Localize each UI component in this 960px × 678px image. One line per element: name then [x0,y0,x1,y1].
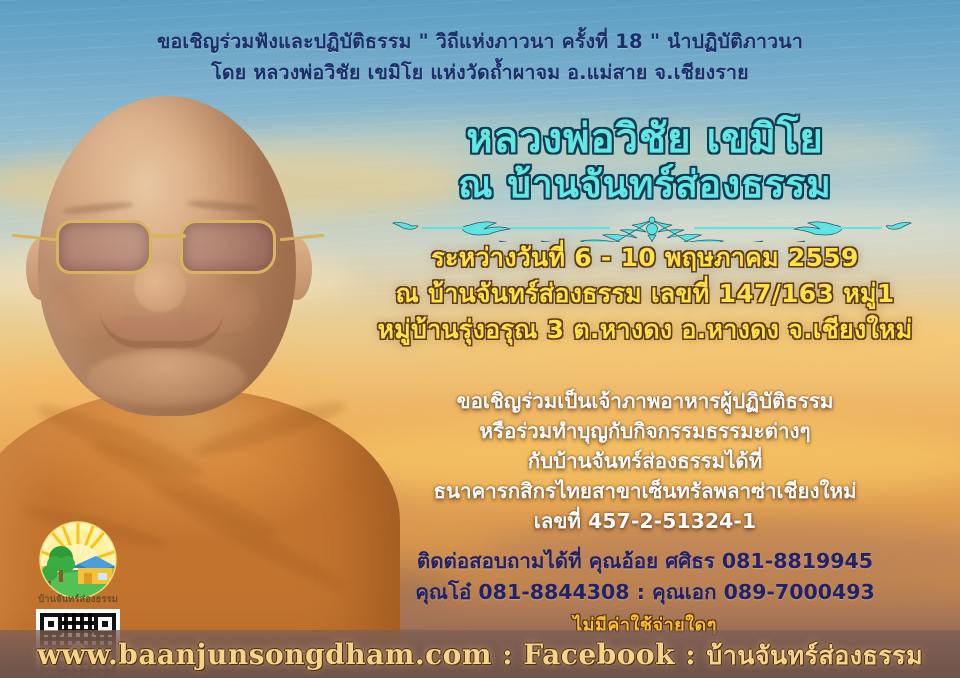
header-line-1: ขอเชิญร่วมฟังและปฏิบัติธรรม " วิถีแห่งภา… [0,26,960,57]
contact-info: ติดต่อสอบถามได้ที่ คุณอ้อย ศศิธร 081-881… [330,546,960,608]
facebook-page-name[interactable]: บ้านจันทร์ส่องธรรม [706,641,923,670]
bank-account-number: เลขที่ 457-2-51324-1 [330,506,960,536]
footer-separator-1: : [492,638,523,671]
donation-line-2: หรือร่วมทำบุญกับกิจกรรมธรรมะต่างๆ [330,416,960,446]
contact-line-2: คุณโอ๋ 081-8844308 : คุณเอก 089-7000493 [330,577,960,608]
baan-jun-song-dham-logo-icon: บ้านจันทร์ส่องธรรม [28,520,128,606]
facebook-label[interactable]: Facebook [523,638,675,671]
footer-separator-2: : [675,638,706,671]
header-invitation-text: ขอเชิญร่วมฟังและปฏิบัติธรรม " วิถีแห่งภา… [0,26,960,88]
event-address-line-1: ณ บ้านจันทร์ส่องธรรม เลขที่ 147/163 หมู่… [330,276,960,312]
donation-line-1: ขอเชิญร่วมเป็นเจ้าภาพอาหารผู้ปฏิบัติธรรม [330,386,960,416]
event-details-gold: ระหว่างวันที่ 6 - 10 พฤษภาคม 2559 ณ บ้าน… [330,240,960,348]
bank-name: ธนาคารกสิกรไทยสาขาเซ็นทรัลพลาซ่าเชียงใหม… [330,476,960,506]
website-url[interactable]: www.baanjunsongdham.com [37,638,492,671]
event-dates: ระหว่างวันที่ 6 - 10 พฤษภาคม 2559 [330,240,960,276]
footer-contact-links: www.baanjunsongdham.com : Facebook : บ้า… [0,636,960,676]
contact-line-1: ติดต่อสอบถามได้ที่ คุณอ้อย ศศิธร 081-881… [330,546,960,577]
header-line-2: โดย หลวงพ่อวิชัย เขมิโย แห่งวัดถ้ำผาจม อ… [0,57,960,88]
event-address-line-2: หมู่บ้านรุ่งอรุณ 3 ต.หางดง อ.หางดง จ.เชี… [330,312,960,348]
ornamental-divider [392,216,912,242]
donation-line-3: กับบ้านจันทร์ส่องธรรมได้ที่ [330,446,960,476]
svg-text:บ้านจันทร์ส่องธรรม: บ้านจันทร์ส่องธรรม [38,593,118,605]
donation-info: ขอเชิญร่วมเป็นเจ้าภาพอาหารผู้ปฏิบัติธรรม… [330,386,960,536]
main-title: หลวงพ่อวิชัย เขมิโย ณ บ้านจันทร์ส่องธรรม [330,116,960,208]
title-line-monk-name: หลวงพ่อวิชัย เขมิโย [330,116,960,162]
title-line-venue: ณ บ้านจันทร์ส่องธรรม [330,162,960,208]
poster-canvas: ขอเชิญร่วมฟังและปฏิบัติธรรม " วิถีแห่งภา… [0,0,960,678]
